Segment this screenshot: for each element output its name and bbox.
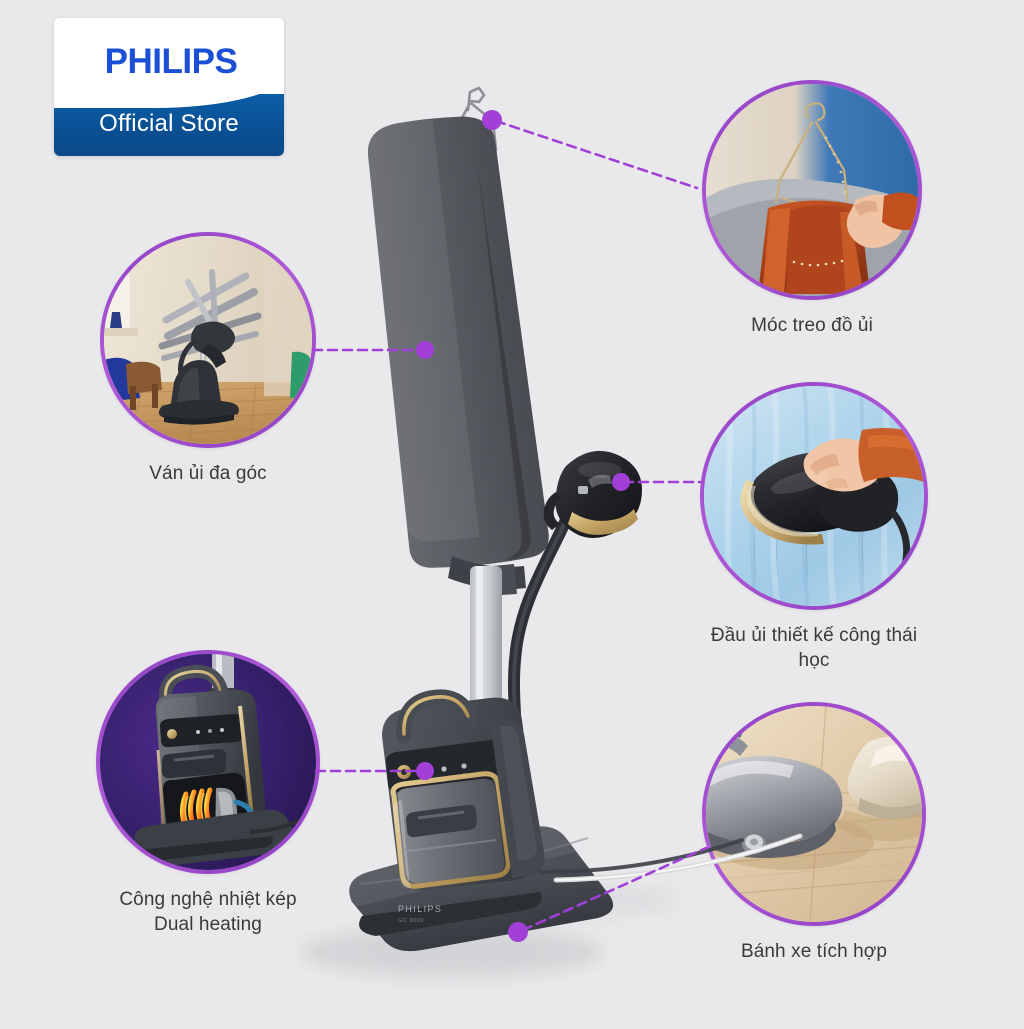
official-store-label: Official Store — [99, 110, 239, 140]
product-hero-image: PHILIPS GC 9000 — [0, 0, 1024, 1024]
callout-anchor-dot-dual-heating — [416, 762, 434, 780]
callout-anchor-dot-wheels — [508, 922, 528, 942]
callout-anchor-dot-hanger — [482, 110, 502, 130]
callout-anchor-dot-board — [416, 341, 434, 359]
svg-text:GC 9000: GC 9000 — [398, 918, 424, 924]
svg-text:PHILIPS: PHILIPS — [398, 904, 442, 914]
callout-anchor-dot-steam-head — [612, 473, 630, 491]
